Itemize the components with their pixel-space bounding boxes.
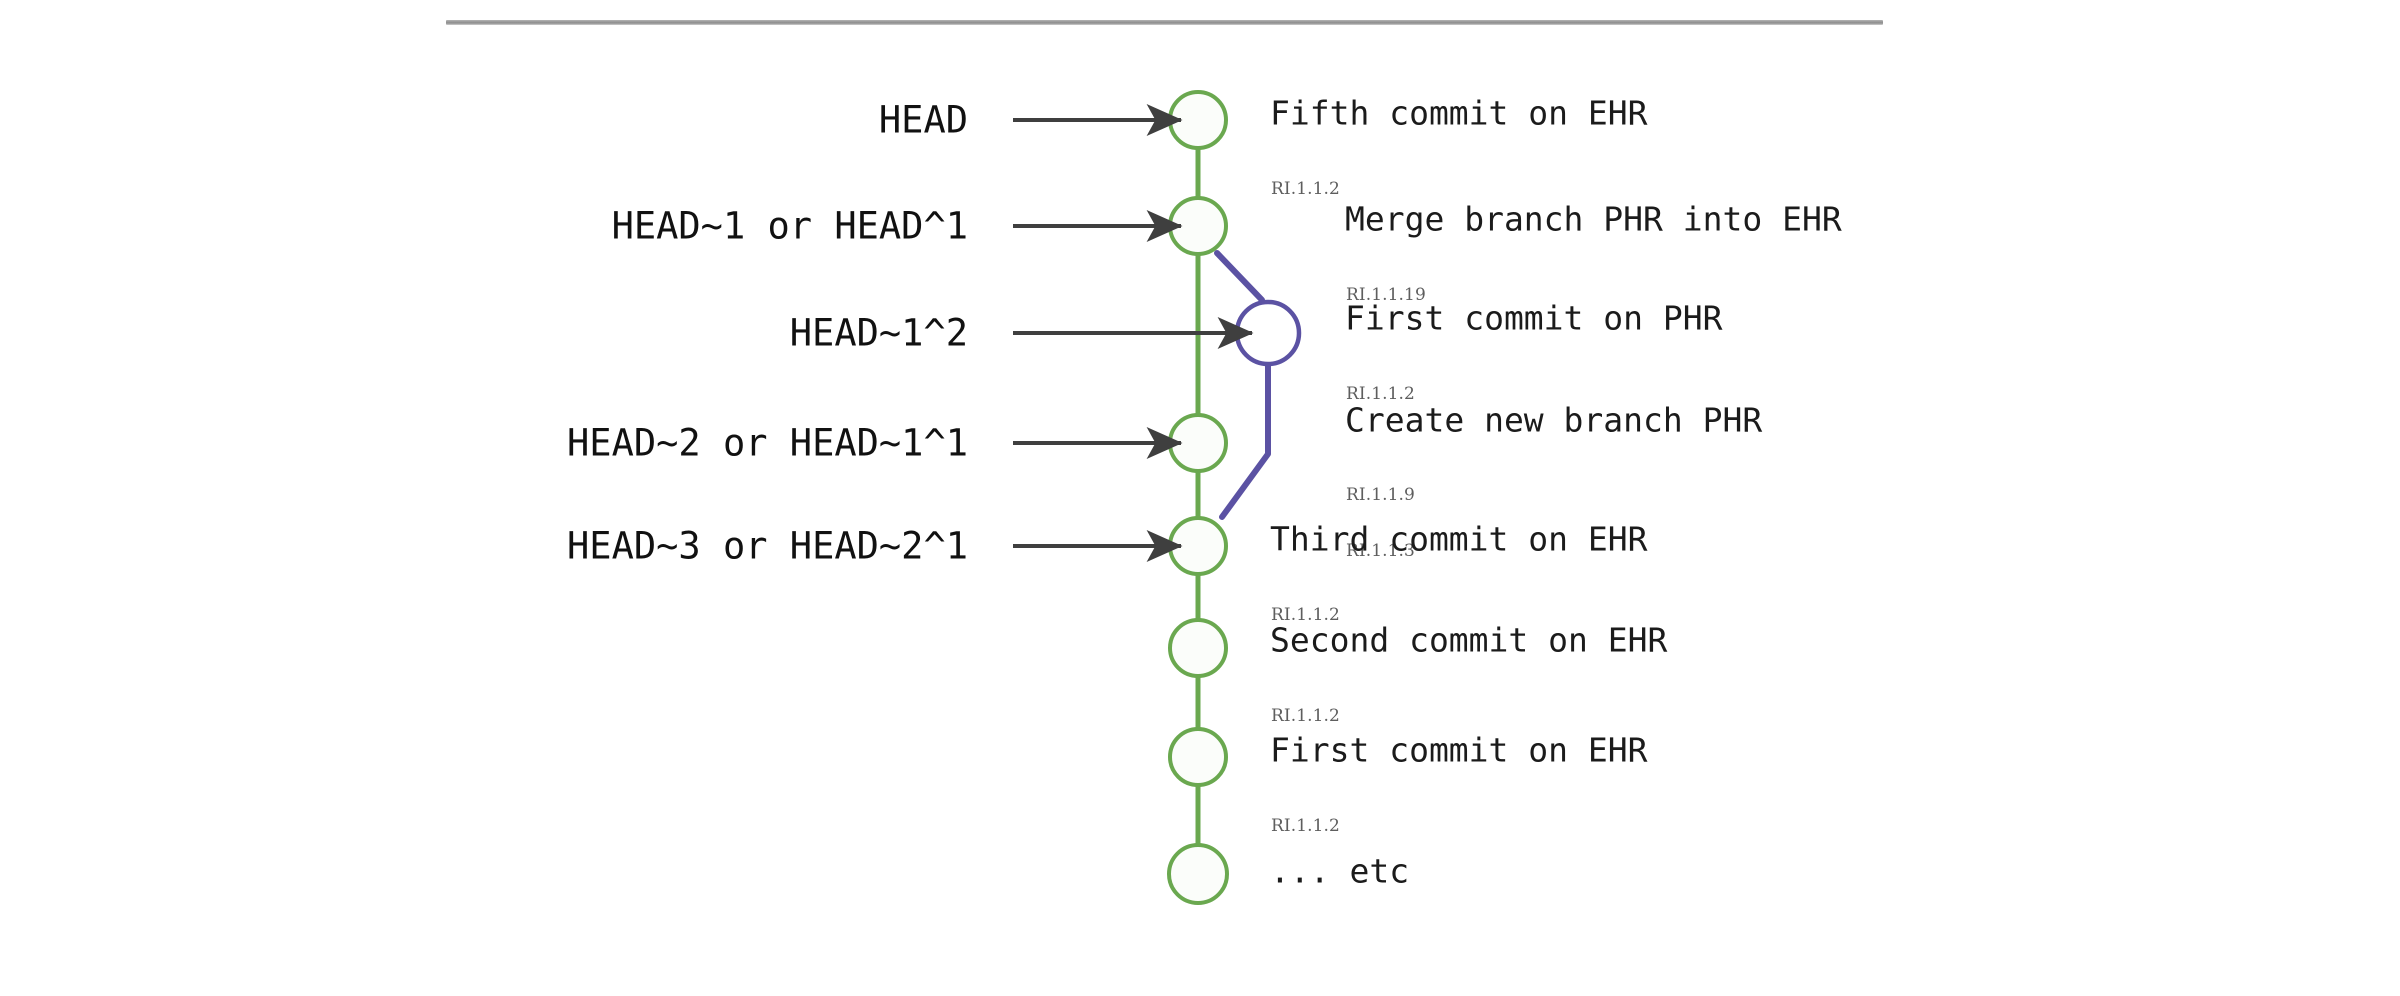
- diagram-canvas: HEAD HEAD~1 or HEAD^1 HEAD~1^2 HEAD~2 or…: [0, 0, 2400, 996]
- pointer-label-head-1: HEAD~1 or HEAD^1: [448, 208, 968, 245]
- commit-graph-svg: [0, 0, 2400, 996]
- pointer-label-head-3: HEAD~3 or HEAD~2^1: [448, 528, 968, 565]
- commit-refs-fifth-commit-on-ehr: RI.1.1.2: [1271, 142, 1340, 236]
- commit-subject-first-commit-on-phr: First commit on PHR: [1345, 302, 1723, 335]
- commit-subject-create-new-branch-phr: Create new branch PHR: [1345, 404, 1762, 437]
- commit-node-etc[interactable]: [1169, 845, 1227, 903]
- ref-tag: RI.1.1.2: [1271, 180, 1340, 198]
- branch-line-phr: [1217, 253, 1268, 517]
- commit-subject-third-commit-on-ehr: Third commit on EHR: [1270, 523, 1648, 556]
- commit-subject-first-commit-on-ehr: First commit on EHR: [1270, 734, 1648, 767]
- commit-subject-fifth-commit-on-ehr: Fifth commit on EHR: [1270, 97, 1648, 130]
- commit-subject-etc: ... etc: [1270, 855, 1409, 888]
- commit-subject-second-commit-on-ehr: Second commit on EHR: [1270, 624, 1667, 657]
- commit-subject-merge-branch-phr-into-ehr: Merge branch PHR into EHR: [1345, 203, 1842, 236]
- pointer-label-head-1-2: HEAD~1^2: [448, 315, 968, 352]
- commit-node-second-commit-on-ehr[interactable]: [1170, 620, 1226, 676]
- ref-tag: RI.1.1.2: [1271, 707, 1340, 725]
- ref-tag: RI.1.1.2: [1271, 817, 1340, 835]
- pointer-label-head: HEAD: [448, 102, 968, 139]
- commit-node-first-commit-on-ehr[interactable]: [1170, 729, 1226, 785]
- ref-tag: RI.1.1.9: [1346, 486, 1415, 504]
- pointer-label-head-2: HEAD~2 or HEAD~1^1: [448, 425, 968, 462]
